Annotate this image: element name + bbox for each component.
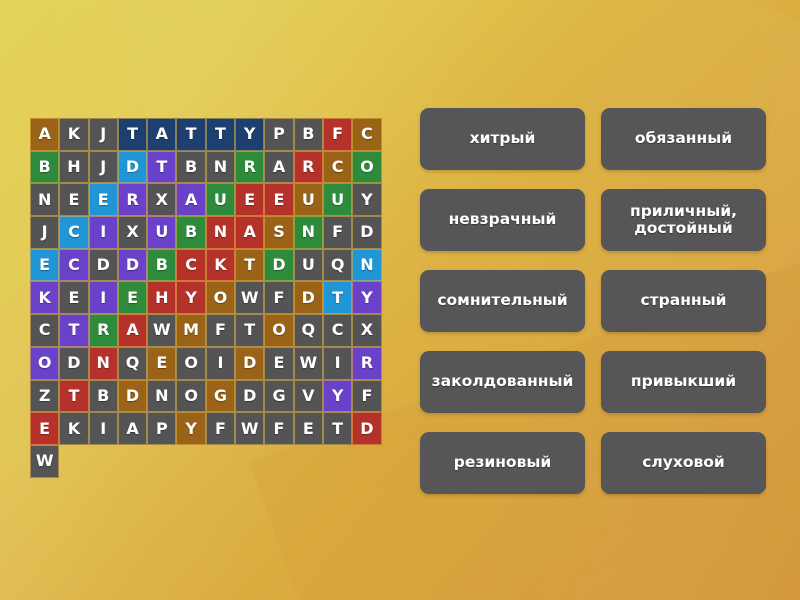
grid-cell[interactable]: C — [323, 314, 352, 347]
grid-cell[interactable]: I — [89, 412, 118, 445]
grid-cell[interactable]: G — [206, 380, 235, 413]
grid-cell[interactable]: T — [176, 118, 205, 151]
grid-cell[interactable]: A — [147, 118, 176, 151]
grid-cell[interactable]: Y — [323, 380, 352, 413]
grid-cell[interactable]: B — [30, 151, 59, 184]
grid-cell[interactable]: B — [176, 151, 205, 184]
grid-cell[interactable]: D — [264, 249, 293, 282]
grid-cell[interactable]: I — [89, 216, 118, 249]
grid-cell[interactable]: T — [147, 151, 176, 184]
grid-cell[interactable]: W — [30, 445, 59, 478]
grid-cell[interactable]: I — [206, 347, 235, 380]
grid-cell[interactable]: H — [59, 151, 88, 184]
grid-cell[interactable]: Y — [235, 118, 264, 151]
grid-cell[interactable]: B — [294, 118, 323, 151]
grid-cell[interactable]: Q — [118, 347, 147, 380]
grid-cell[interactable]: E — [264, 183, 293, 216]
word-button[interactable]: странный — [601, 270, 766, 332]
grid-cell[interactable]: A — [118, 412, 147, 445]
word-search-grid[interactable]: AKJTATTYPBFCBHJDTBNRARCONEERXAUEEUUYJCIX… — [30, 118, 382, 478]
grid-cell[interactable]: F — [323, 118, 352, 151]
grid-cell[interactable]: Y — [176, 281, 205, 314]
grid-cell[interactable]: K — [59, 412, 88, 445]
grid-cell[interactable]: U — [294, 249, 323, 282]
grid-cell[interactable]: D — [118, 151, 147, 184]
grid-cell[interactable]: U — [294, 183, 323, 216]
grid-cell[interactable]: R — [89, 314, 118, 347]
word-button-label: слуховой — [642, 454, 725, 471]
word-search-game-screen: AKJTATTYPBFCBHJDTBNRARCONEERXAUEEUUYJCIX… — [0, 0, 800, 600]
word-button[interactable]: резиновый — [420, 432, 585, 494]
grid-cell[interactable]: F — [264, 281, 293, 314]
grid-cell[interactable]: T — [118, 118, 147, 151]
grid-cell[interactable]: C — [59, 249, 88, 282]
grid-cell[interactable]: O — [352, 151, 381, 184]
word-list-panel: хитрыйобязанныйневзрачныйприличный, дост… — [420, 108, 770, 493]
grid-cell[interactable]: V — [294, 380, 323, 413]
word-button[interactable]: привыкший — [601, 351, 766, 413]
grid-cell[interactable]: Y — [176, 412, 205, 445]
grid-cell[interactable]: O — [30, 347, 59, 380]
grid-cell[interactable]: U — [206, 183, 235, 216]
word-button-label: невзрачный — [449, 211, 557, 228]
grid-cell[interactable]: N — [147, 380, 176, 413]
grid-cell[interactable]: W — [147, 314, 176, 347]
grid-cell[interactable]: C — [323, 151, 352, 184]
grid-cell[interactable]: X — [147, 183, 176, 216]
grid-cell[interactable]: F — [206, 314, 235, 347]
grid-cell[interactable]: E — [59, 183, 88, 216]
grid-cell[interactable]: F — [323, 216, 352, 249]
grid-cell[interactable]: D — [59, 347, 88, 380]
word-button[interactable]: обязанный — [601, 108, 766, 170]
grid-cell[interactable]: D — [89, 249, 118, 282]
grid-cell[interactable]: U — [323, 183, 352, 216]
grid-cell[interactable]: B — [176, 216, 205, 249]
grid-cell[interactable]: C — [59, 216, 88, 249]
grid-cell[interactable]: E — [30, 412, 59, 445]
grid-cell[interactable]: Q — [323, 249, 352, 282]
word-button-label: сомнительный — [437, 292, 567, 309]
grid-cell[interactable]: E — [89, 183, 118, 216]
grid-cell[interactable]: Q — [294, 314, 323, 347]
grid-cell[interactable]: W — [235, 412, 264, 445]
grid-cell[interactable]: S — [264, 216, 293, 249]
grid-cell[interactable]: T — [235, 249, 264, 282]
grid-cell[interactable]: O — [176, 380, 205, 413]
grid-cell[interactable]: P — [147, 412, 176, 445]
grid-cell[interactable]: D — [352, 216, 381, 249]
grid-cell[interactable]: T — [323, 281, 352, 314]
word-button-label: обязанный — [635, 130, 732, 147]
grid-cell[interactable]: K — [59, 118, 88, 151]
grid-cell[interactable]: R — [118, 183, 147, 216]
grid-cell[interactable]: D — [294, 281, 323, 314]
grid-cell[interactable]: D — [118, 249, 147, 282]
grid-cell[interactable]: H — [147, 281, 176, 314]
word-button-label: привыкший — [631, 373, 736, 390]
word-button[interactable]: хитрый — [420, 108, 585, 170]
grid-cell[interactable]: R — [352, 347, 381, 380]
grid-cell[interactable]: O — [206, 281, 235, 314]
grid-cell[interactable]: N — [294, 216, 323, 249]
grid-cell[interactable]: A — [118, 314, 147, 347]
word-button[interactable]: невзрачный — [420, 189, 585, 251]
grid-cell[interactable]: U — [147, 216, 176, 249]
grid-cell[interactable]: P — [264, 118, 293, 151]
grid-cell[interactable]: F — [352, 380, 381, 413]
grid-cell[interactable]: K — [206, 249, 235, 282]
grid-cell[interactable]: A — [30, 118, 59, 151]
grid-cell[interactable]: T — [59, 380, 88, 413]
word-button-label: заколдованный — [432, 373, 574, 390]
grid-cell[interactable]: M — [176, 314, 205, 347]
grid-cell[interactable]: Y — [352, 281, 381, 314]
grid-cell[interactable]: F — [264, 412, 293, 445]
grid-cell[interactable]: K — [30, 281, 59, 314]
grid-cell[interactable]: N — [206, 151, 235, 184]
grid-cell[interactable]: Z — [30, 380, 59, 413]
grid-cell[interactable]: B — [147, 249, 176, 282]
grid-cell[interactable]: N — [89, 347, 118, 380]
grid-cell[interactable]: J — [30, 216, 59, 249]
grid-cell[interactable]: E — [294, 412, 323, 445]
grid-cell[interactable]: C — [352, 118, 381, 151]
word-button-label: приличный, достойный — [630, 203, 737, 238]
grid-cell[interactable]: A — [235, 216, 264, 249]
grid-cell[interactable]: O — [264, 314, 293, 347]
grid-cell[interactable]: B — [89, 380, 118, 413]
grid-cell[interactable]: D — [235, 380, 264, 413]
word-button[interactable]: сомнительный — [420, 270, 585, 332]
grid-cell[interactable]: I — [323, 347, 352, 380]
word-button[interactable]: приличный, достойный — [601, 189, 766, 251]
grid-cell[interactable]: D — [118, 380, 147, 413]
grid-cell[interactable]: D — [352, 412, 381, 445]
word-button-label: странный — [640, 292, 726, 309]
grid-cell[interactable]: X — [352, 314, 381, 347]
grid-cell[interactable]: J — [89, 151, 118, 184]
grid-cell[interactable]: N — [30, 183, 59, 216]
word-button-label: резиновый — [454, 454, 552, 471]
grid-cell[interactable]: E — [59, 281, 88, 314]
grid-cell[interactable]: I — [89, 281, 118, 314]
grid-cell[interactable]: X — [118, 216, 147, 249]
grid-cell[interactable]: E — [30, 249, 59, 282]
grid-cell[interactable]: C — [30, 314, 59, 347]
grid-cell[interactable]: A — [176, 183, 205, 216]
word-button[interactable]: заколдованный — [420, 351, 585, 413]
grid-cell[interactable]: R — [235, 151, 264, 184]
grid-cell[interactable]: T — [323, 412, 352, 445]
grid-cell[interactable]: E — [235, 183, 264, 216]
grid-cell[interactable]: T — [206, 118, 235, 151]
grid-cell[interactable]: N — [206, 216, 235, 249]
grid-cell[interactable]: E — [264, 347, 293, 380]
grid-cell[interactable]: N — [352, 249, 381, 282]
grid-cell[interactable]: J — [89, 118, 118, 151]
word-button[interactable]: слуховой — [601, 432, 766, 494]
word-button-label: хитрый — [470, 130, 536, 147]
grid-cell[interactable]: A — [264, 151, 293, 184]
grid-cell[interactable]: T — [235, 314, 264, 347]
grid-cell[interactable]: G — [264, 380, 293, 413]
grid-cell[interactable]: R — [294, 151, 323, 184]
grid-cell[interactable]: Y — [352, 183, 381, 216]
grid-cell[interactable]: C — [176, 249, 205, 282]
grid-cell[interactable]: W — [235, 281, 264, 314]
grid-cell[interactable]: O — [176, 347, 205, 380]
grid-cell[interactable]: T — [59, 314, 88, 347]
grid-cell[interactable]: E — [118, 281, 147, 314]
grid-cell[interactable]: F — [206, 412, 235, 445]
grid-cell[interactable]: E — [147, 347, 176, 380]
grid-cell[interactable]: W — [294, 347, 323, 380]
grid-cell[interactable]: D — [235, 347, 264, 380]
